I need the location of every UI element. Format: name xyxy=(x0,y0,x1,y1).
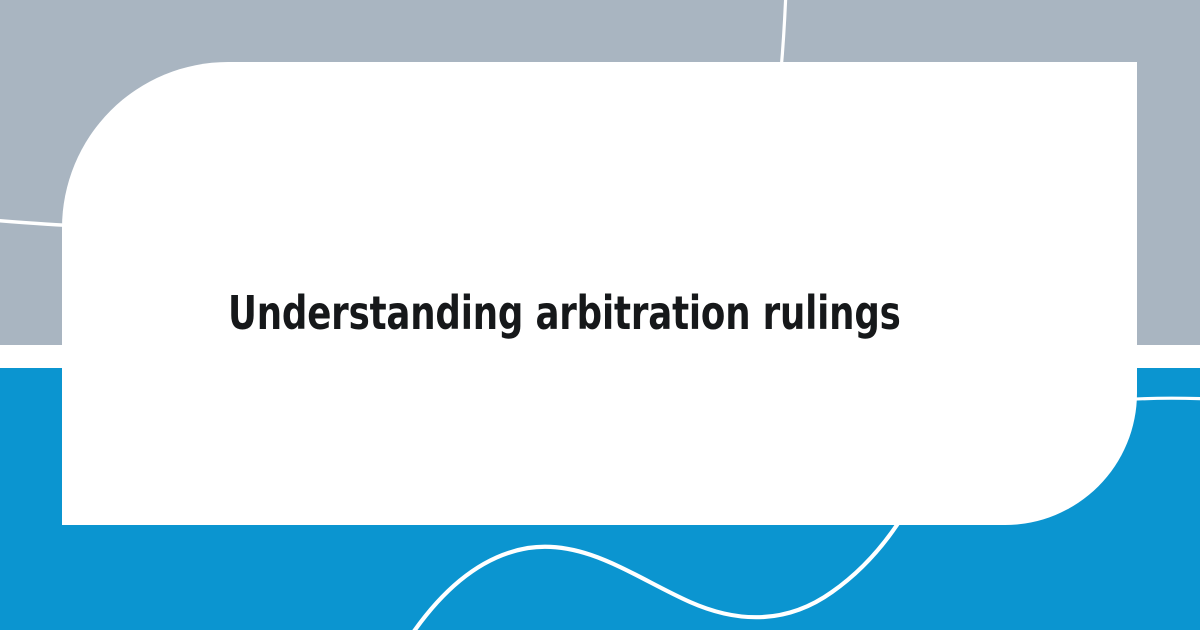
social-card-canvas: Understanding arbitration rulings xyxy=(0,0,1200,630)
title-block: Understanding arbitration rulings xyxy=(228,278,1048,348)
page-title: Understanding arbitration rulings xyxy=(228,289,901,337)
